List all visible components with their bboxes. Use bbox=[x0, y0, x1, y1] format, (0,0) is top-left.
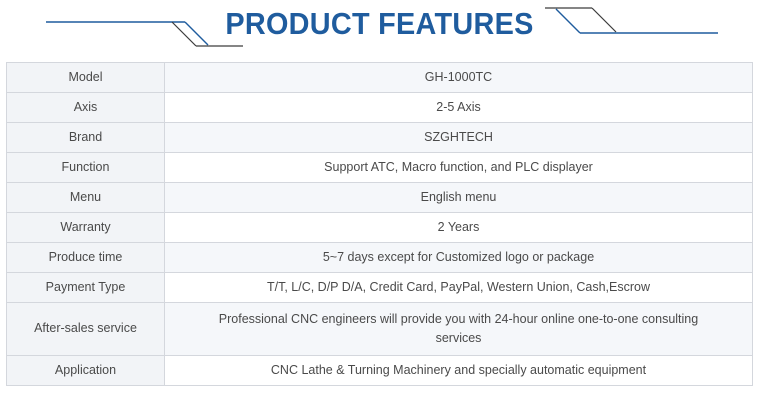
row-label: Warranty bbox=[7, 213, 165, 243]
table-row: Brand SZGHTECH bbox=[7, 123, 753, 153]
row-value: CNC Lathe & Turning Machinery and specia… bbox=[165, 356, 753, 386]
row-value: SZGHTECH bbox=[165, 123, 753, 153]
row-label: Payment Type bbox=[7, 273, 165, 303]
table-row: Warranty 2 Years bbox=[7, 213, 753, 243]
table-row: After-sales service Professional CNC eng… bbox=[7, 303, 753, 356]
product-features-table: Model GH-1000TC Axis 2-5 Axis Brand SZGH… bbox=[6, 62, 753, 386]
row-value: T/T, L/C, D/P D/A, Credit Card, PayPal, … bbox=[165, 273, 753, 303]
table-row: Application CNC Lathe & Turning Machiner… bbox=[7, 356, 753, 386]
row-label: Function bbox=[7, 153, 165, 183]
row-label: Axis bbox=[7, 93, 165, 123]
row-value: Support ATC, Macro function, and PLC dis… bbox=[165, 153, 753, 183]
row-label: Application bbox=[7, 356, 165, 386]
row-label: After-sales service bbox=[7, 303, 165, 356]
row-value: GH-1000TC bbox=[165, 63, 753, 93]
page-header: PRODUCT FEATURES bbox=[0, 0, 759, 60]
table-row: Axis 2-5 Axis bbox=[7, 93, 753, 123]
table-row: Payment Type T/T, L/C, D/P D/A, Credit C… bbox=[7, 273, 753, 303]
table-row: Function Support ATC, Macro function, an… bbox=[7, 153, 753, 183]
page-title: PRODUCT FEATURES bbox=[27, 6, 733, 42]
row-value: English menu bbox=[165, 183, 753, 213]
row-label: Brand bbox=[7, 123, 165, 153]
table-row: Menu English menu bbox=[7, 183, 753, 213]
row-value-text: Professional CNC engineers will provide … bbox=[171, 310, 746, 349]
row-value: Professional CNC engineers will provide … bbox=[165, 303, 753, 356]
row-label: Produce time bbox=[7, 243, 165, 273]
product-features-section: Model GH-1000TC Axis 2-5 Axis Brand SZGH… bbox=[0, 60, 759, 386]
row-label: Model bbox=[7, 63, 165, 93]
row-label: Menu bbox=[7, 183, 165, 213]
row-value: 2-5 Axis bbox=[165, 93, 753, 123]
table-row: Model GH-1000TC bbox=[7, 63, 753, 93]
table-body: Model GH-1000TC Axis 2-5 Axis Brand SZGH… bbox=[7, 63, 753, 386]
row-value: 5~7 days except for Customized logo or p… bbox=[165, 243, 753, 273]
row-value: 2 Years bbox=[165, 213, 753, 243]
table-row: Produce time 5~7 days except for Customi… bbox=[7, 243, 753, 273]
